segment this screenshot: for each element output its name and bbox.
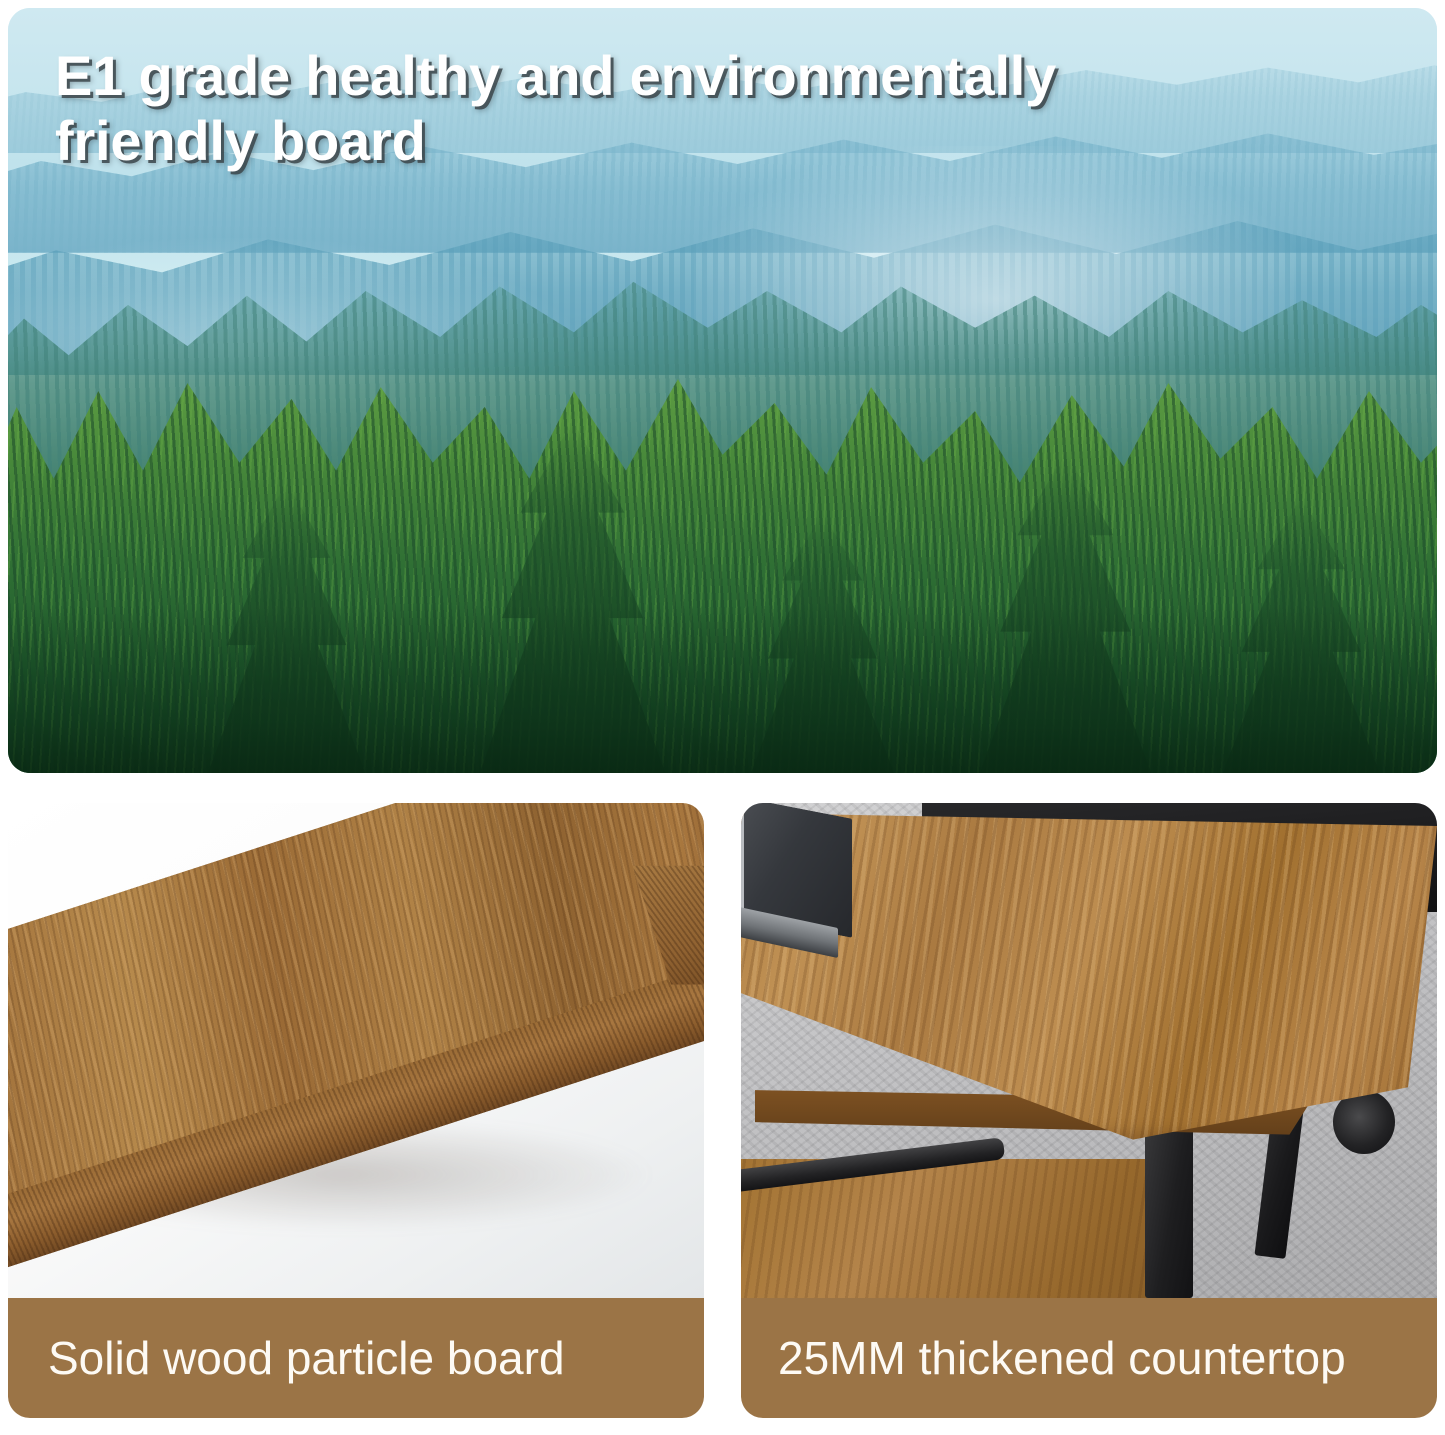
canopy-shadow-gradient xyxy=(8,605,1437,773)
forest-hero-banner: E1 grade healthy and environmentally fri… xyxy=(8,8,1437,773)
thickened-countertop-panel: 25MM thickened countertop xyxy=(741,803,1437,1418)
board-slab-photo xyxy=(8,803,704,1298)
desk-countertop-photo xyxy=(741,803,1437,1298)
caption-label-right: 25MM thickened countertop xyxy=(741,1331,1346,1385)
caption-bar-left: Solid wood particle board xyxy=(8,1298,704,1418)
solid-wood-particle-board-panel: Solid wood particle board xyxy=(8,803,704,1418)
caption-bar-right: 25MM thickened countertop xyxy=(741,1298,1437,1418)
hero-headline: E1 grade healthy and environmentally fri… xyxy=(55,44,1075,174)
caption-label-left: Solid wood particle board xyxy=(8,1331,565,1385)
desk-leg-front xyxy=(1145,1110,1194,1298)
